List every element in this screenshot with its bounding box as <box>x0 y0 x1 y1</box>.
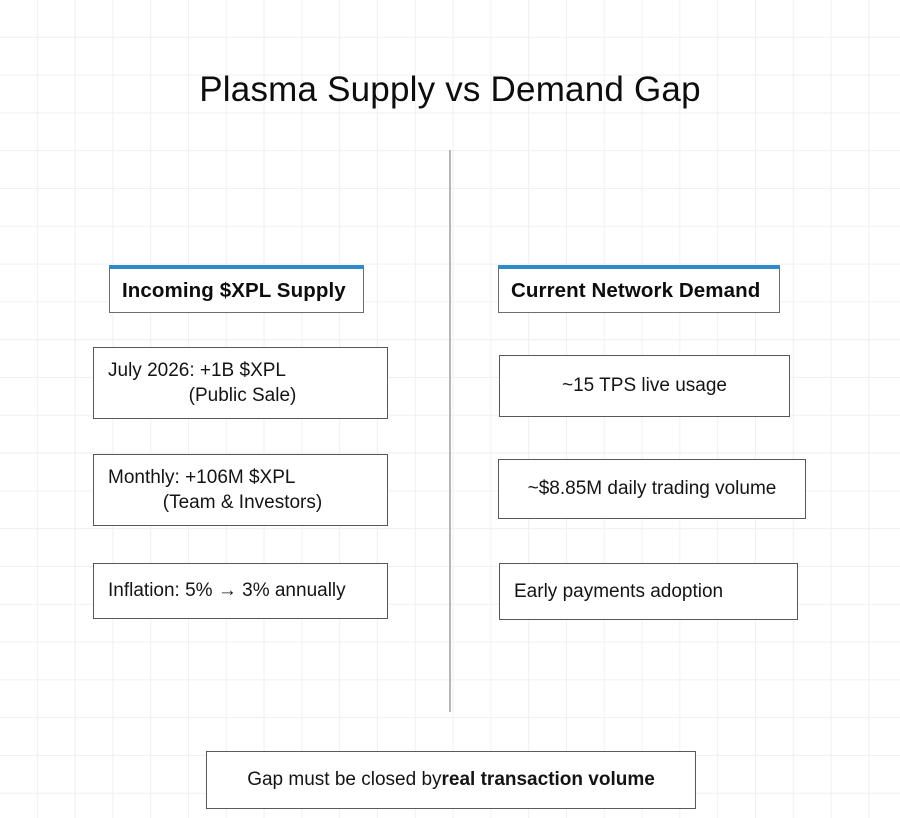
demand-item-3: Early payments adoption <box>499 563 798 620</box>
supply-item-2-line2: (Team & Investors) <box>108 490 377 515</box>
column-divider <box>449 150 451 712</box>
right-column-header: Current Network Demand <box>498 265 780 313</box>
left-column-header: Incoming $XPL Supply <box>109 265 364 313</box>
supply-item-1: July 2026: +1B $XPL (Public Sale) <box>93 347 388 419</box>
left-column-header-label: Incoming $XPL Supply <box>122 277 346 304</box>
demand-item-1-text: ~15 TPS live usage <box>500 373 789 398</box>
page-title: Plasma Supply vs Demand Gap <box>0 70 900 110</box>
conclusion-banner: Gap must be closed by real transaction v… <box>206 751 696 809</box>
supply-item-2-line1: Monthly: +106M $XPL <box>108 465 377 490</box>
conclusion-prefix: Gap must be closed by <box>247 769 441 791</box>
demand-item-2: ~$8.85M daily trading volume <box>498 459 806 519</box>
supply-item-3-text: Inflation: 5% → 3% annually <box>94 578 387 603</box>
conclusion-emphasis: real transaction volume <box>442 769 655 791</box>
supply-item-1-line1: July 2026: +1B $XPL <box>108 358 377 383</box>
supply-item-3: Inflation: 5% → 3% annually <box>93 563 388 619</box>
right-column-header-label: Current Network Demand <box>511 277 760 304</box>
supply-item-2: Monthly: +106M $XPL (Team & Investors) <box>93 454 388 526</box>
demand-item-2-text: ~$8.85M daily trading volume <box>499 476 805 501</box>
supply-item-2-text: Monthly: +106M $XPL (Team & Investors) <box>94 465 387 515</box>
demand-item-1: ~15 TPS live usage <box>499 355 790 417</box>
slide-canvas: Plasma Supply vs Demand Gap Incoming $XP… <box>0 0 900 818</box>
supply-item-1-text: July 2026: +1B $XPL (Public Sale) <box>94 358 387 408</box>
supply-item-1-line2: (Public Sale) <box>108 383 377 408</box>
demand-item-3-text: Early payments adoption <box>500 579 797 604</box>
